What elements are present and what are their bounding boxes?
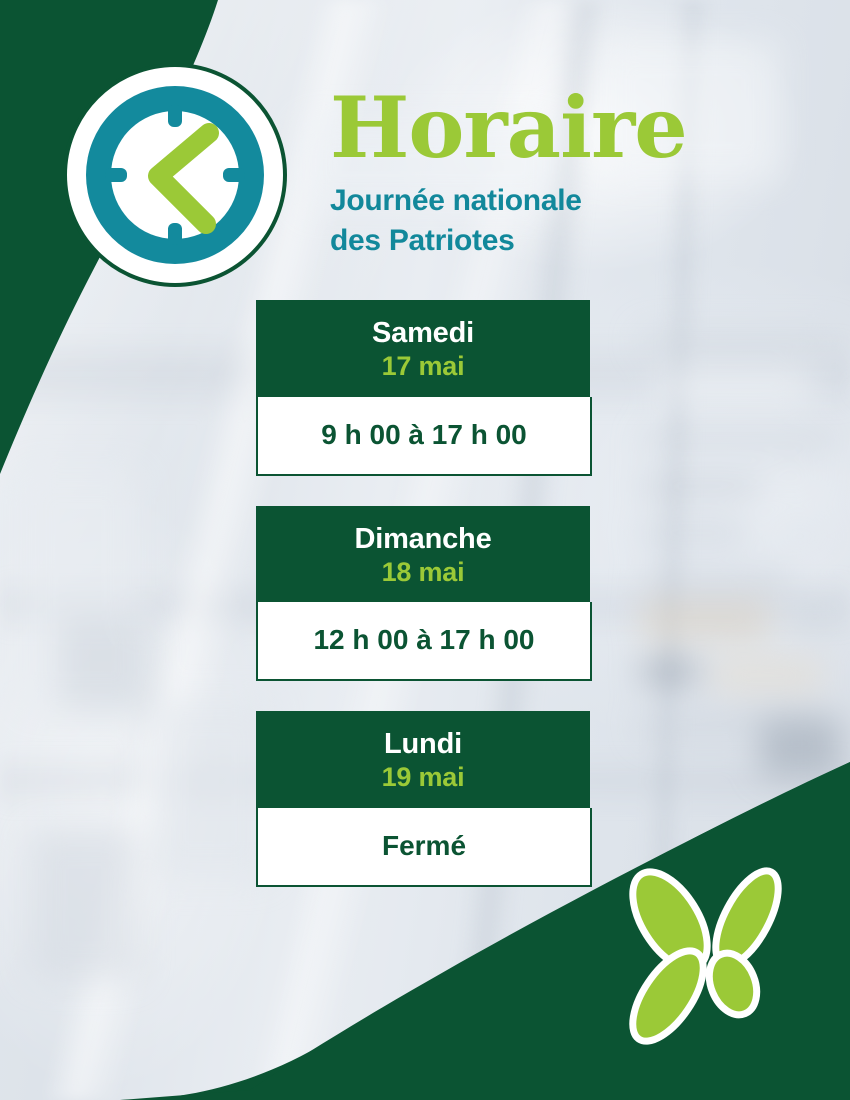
schedule-card-body: 9 h 00 à 17 h 00 bbox=[256, 397, 592, 476]
schedule-card-header: Samedi 17 mai bbox=[256, 300, 590, 397]
schedule-card-header: Dimanche 18 mai bbox=[256, 506, 590, 603]
schedule-card-hours: Fermé bbox=[258, 830, 590, 862]
schedule-card-day: Samedi bbox=[256, 316, 590, 350]
schedule-card: Lundi 19 mai Fermé bbox=[256, 711, 592, 887]
page-title: Horaire bbox=[330, 88, 750, 169]
schedule-card-day: Lundi bbox=[256, 727, 590, 761]
schedule-card-hours: 12 h 00 à 17 h 00 bbox=[258, 624, 590, 656]
schedule-card-body: 12 h 00 à 17 h 00 bbox=[256, 602, 592, 681]
schedule-card-body: Fermé bbox=[256, 808, 592, 887]
schedule-card-day: Dimanche bbox=[256, 522, 590, 556]
schedule-card: Dimanche 18 mai 12 h 00 à 17 h 00 bbox=[256, 506, 592, 682]
schedule-card-date: 19 mai bbox=[256, 761, 590, 793]
subtitle-line-2: des Patriotes bbox=[330, 221, 750, 262]
schedule-card-list: Samedi 17 mai 9 h 00 à 17 h 00 Dimanche … bbox=[256, 300, 592, 887]
butterfly-logo-icon bbox=[614, 862, 804, 1052]
schedule-card-header: Lundi 19 mai bbox=[256, 711, 590, 808]
subtitle-line-1: Journée nationale bbox=[330, 181, 750, 222]
page-subtitle: Journée nationale des Patriotes bbox=[330, 181, 750, 263]
schedule-card-date: 17 mai bbox=[256, 350, 590, 382]
schedule-card-hours: 9 h 00 à 17 h 00 bbox=[258, 419, 590, 451]
schedule-card: Samedi 17 mai 9 h 00 à 17 h 00 bbox=[256, 300, 592, 476]
title-block: Horaire Journée nationale des Patriotes bbox=[330, 88, 750, 262]
schedule-card-date: 18 mai bbox=[256, 556, 590, 588]
clock-icon bbox=[62, 62, 288, 288]
